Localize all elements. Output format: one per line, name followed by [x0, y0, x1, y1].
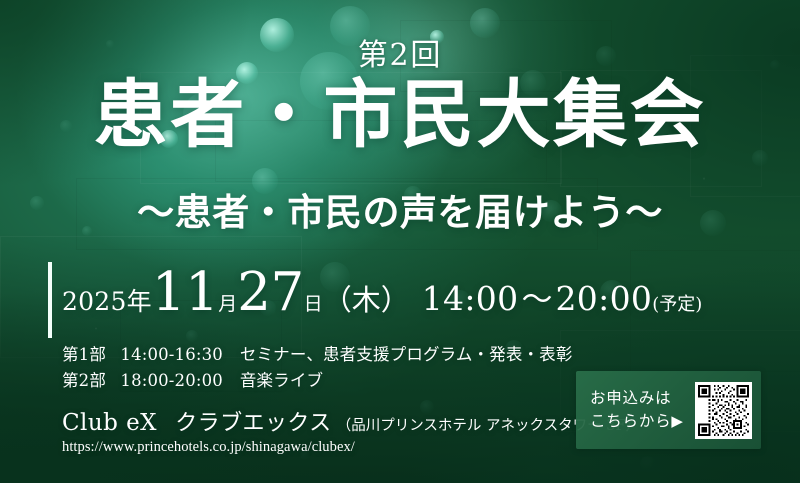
program-description: 音楽ライブ — [234, 368, 323, 394]
date-accent-bar — [48, 262, 52, 338]
program-part-label: 第1部 — [62, 342, 106, 368]
date-day-unit: 日 — [304, 289, 323, 316]
application-cta-line2-row: こちらから▶ — [590, 410, 684, 433]
page-title: 患者・市民大集会 — [0, 78, 800, 152]
time-range-separator: 〜 — [518, 274, 555, 319]
venue-name-en: Club eX — [62, 410, 157, 436]
venue-block: Club eX クラブエックス （品川プリンスホテル アネックスタワー 3F） … — [62, 405, 640, 456]
venue-name-row: Club eX クラブエックス （品川プリンスホテル アネックスタワー 3F） — [62, 405, 640, 437]
qr-code-icon[interactable] — [695, 382, 752, 439]
application-cta-line1: お申込みは — [590, 387, 684, 410]
page-subtitle: 〜患者・市民の声を届けよう〜 — [0, 182, 800, 236]
event-end-time: 20:00 — [555, 279, 652, 318]
program-part-label: 第2部 — [62, 368, 106, 394]
application-cta-text: お申込みは こちらから▶ — [576, 387, 684, 433]
date-month-unit: 月 — [218, 289, 237, 316]
arrow-right-icon: ▶ — [671, 412, 683, 430]
program-list: 第1部 14:00-16:30 セミナー、患者支援プログラム・発表・表彰 第2部… — [62, 342, 572, 394]
event-date-line: 2025年 11 月 27 日 （木） 14:00 〜 20:00 (予定) — [62, 266, 702, 319]
event-poster: 第2回 患者・市民大集会 〜患者・市民の声を届けよう〜 2025年 11 月 2… — [0, 0, 800, 483]
program-time: 14:00-16:30 — [111, 342, 228, 368]
date-day: 27 — [237, 266, 303, 319]
event-start-time: 14:00 — [422, 279, 519, 318]
qr-code-graphic — [698, 385, 749, 436]
list-item: 第1部 14:00-16:30 セミナー、患者支援プログラム・発表・表彰 — [62, 342, 572, 368]
application-cta-box[interactable]: お申込みは こちらから▶ — [576, 371, 761, 449]
edition-label: 第2回 — [0, 30, 800, 74]
time-tentative-note: (予定) — [652, 290, 702, 316]
date-month: 11 — [152, 266, 218, 319]
date-weekday: （木） — [323, 277, 410, 319]
program-time: 18:00-20:00 — [111, 368, 228, 394]
application-cta-line2: こちらから — [590, 412, 671, 430]
date-year: 2025年 — [62, 282, 152, 318]
program-description: セミナー、患者支援プログラム・発表・表彰 — [234, 342, 573, 368]
poster-content: 第2回 患者・市民大集会 〜患者・市民の声を届けよう〜 2025年 11 月 2… — [0, 0, 800, 483]
list-item: 第2部 18:00-20:00 音楽ライブ — [62, 368, 572, 394]
venue-name-jp: クラブエックス — [175, 411, 331, 436]
venue-url-link[interactable]: https://www.princehotels.co.jp/shinagawa… — [62, 439, 640, 456]
